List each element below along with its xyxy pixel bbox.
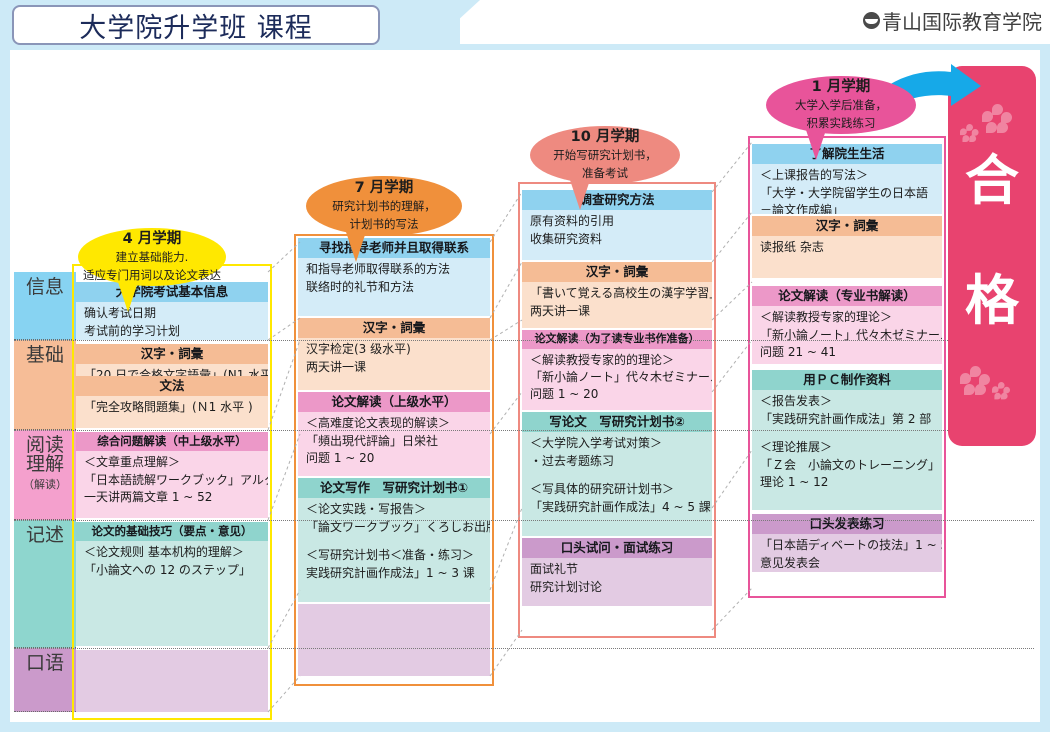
course-card-line: 汉字检定(3 级水平) [306,341,484,358]
page-title-text: 大学院升学班 课程 [79,6,313,45]
course-card-header: 汉字・詞彙 [76,344,268,364]
course-card-line: ＜理论推展＞ [760,439,936,456]
category-3: 阅读理解（解读） [14,430,76,520]
category-label: 口语 [26,654,64,673]
course-card-line: 「20 日で合格文字語彙」(N1 水平 ) [84,367,262,376]
course-card-body: 汉字检定(3 级水平)两天讲一课 [298,338,490,380]
course-card[interactable]: 论文解读（专业书解读）＜解读教授专家的理论＞「新小論ノート」代々木ゼミナール问题… [752,286,942,364]
term-bubble-subtitle: 积累实践练习 [807,116,876,132]
course-card-header: 论文解读（上级水平） [298,392,490,412]
course-card-header: 用ＰＣ制作资料 [752,370,942,390]
course-card-line: ＜上课报告的写法＞ [760,167,936,184]
course-card-line: 「頻出現代評論」日栄社 [306,433,484,450]
course-card[interactable]: 论文解读（为了读专业书作准备）＜解读教授专家的的理论＞「新小論ノート」代々木ゼミ… [522,330,712,410]
course-card-body: 「日本語ディベートの技法」1 ~ 5 章意见发表会 [752,534,942,572]
course-card-line [530,470,706,481]
course-card-header: 汉字・詞彙 [752,216,942,236]
course-card-line: ＜论文实践・写报告＞ [306,501,484,518]
course-card-line: ＜写具体的研究研计划书＞ [530,481,706,498]
course-card-line: 「新小論ノート」代々木ゼミナール [760,327,936,344]
course-card-body: ＜报告发表＞「実践研究計画作成法」第 2 部＜理论推展＞「Ｚ会 小論文のトレーニ… [752,390,942,495]
term-bubble-july: 7 月学期研究计划书的理解，计划书的写法 [306,176,462,236]
row-divider [14,520,1034,521]
course-card-body: 面试礼节研究计划讨论 [522,558,712,600]
course-card-body: ＜解读教授专家的理论＞「新小論ノート」代々木ゼミナール问题 21 ~ 41 [752,306,942,364]
course-card-header: 文法 [76,376,268,396]
term-bubble-tail [570,180,590,210]
circle-logo-icon [863,12,880,29]
course-card[interactable] [76,650,268,712]
course-card-line: 两天讲一课 [306,359,484,376]
course-card-body: 「20 日で合格文字語彙」(N1 水平 ) [76,364,268,376]
course-card-line: 「実践研究計画作成法」第 2 部 [760,411,936,428]
course-card-line: 「新小論ノート」代々木ゼミナール [530,369,706,386]
category-4: 记述 [14,520,76,648]
course-card-header: 论文的基础技巧（要点・意见） [76,522,268,541]
course-card[interactable] [298,604,490,676]
course-card[interactable]: 文法「完全攻略問題集」(Ｎ1 水平 ) [76,376,268,428]
term-bubble-title: 10 月学期 [571,129,640,146]
course-card-line: 「日本語ディベートの技法」1 ~ 5 章 [760,537,936,554]
course-card-body: ＜解读教授专家的的理论＞「新小論ノート」代々木ゼミナール问题 1 ~ 20 [522,349,712,408]
course-card-line: 联络时的礼节和方法 [306,279,484,296]
term-bubble-january: 1 月学期大学入学后准备，积累实践练习 [766,76,916,134]
term-bubble-subtitle: 研究计划书的理解， [332,199,436,215]
course-card[interactable]: 论文写作 写研究计划书①＜论文实践・写报告＞「論文ワークブック」くろしお出版＜写… [298,478,490,602]
course-card-line: －論文作成編」 [760,202,936,214]
course-card[interactable]: 汉字・詞彙汉字检定(3 级水平)两天讲一课 [298,318,490,390]
course-card-line: 研究计划讨论 [530,579,706,596]
school-logo: 青山国际教育学院 [863,6,1042,35]
course-card-body: 「完全攻略問題集」(Ｎ1 水平 ) [76,396,268,420]
category-label: 记述 [26,526,64,545]
course-card-line: ＜论文规则 基本机构的理解＞ [84,544,262,561]
course-card-header: 论文解读（专业书解读） [752,286,942,306]
course-card-body: 和指导老师取得联系的方法联络时的礼节和方法 [298,258,490,300]
term-bubble-october: 10 月学期开始写研究计划书，准备考试 [530,126,680,184]
course-card-line [306,536,484,547]
course-card[interactable]: 汉字・詞彙「20 日で合格文字語彙」(N1 水平 ) [76,344,268,376]
course-card-line: 读报纸 杂志 [760,239,936,256]
course-card-header: 汉字・詞彙 [522,262,712,282]
course-card-body: 「書いて覚える高校生の漢字学習」两天讲一课 [522,282,712,324]
row-divider [14,430,1034,431]
course-card-body: ＜大学院入学考试对策＞・过去考题练习＜写具体的研究研计划书＞「実践研究計画作成法… [522,432,712,520]
course-card-line: 「大学・大学院留学生の日本語 [760,185,936,202]
course-card-line: 実践研究計画作成法」1 ~ 3 课 [306,565,484,582]
course-card-line: ＜写研究计划书＜准备・练习＞ [306,547,484,564]
term-bubble-subtitle: 建立基础能力. [116,250,189,266]
course-card-line: 「小論文への 12 のステップ」 [84,562,262,579]
course-card-line: 意见发表会 [760,555,936,572]
course-card-body: 原有资料的引用收集研究资料 [522,210,712,252]
page-title: 大学院升学班 课程 [12,5,380,45]
header-band: 大学院升学班 课程 青山国际教育学院 [0,0,1050,50]
course-card[interactable]: 调查研究方法原有资料的引用收集研究资料 [522,190,712,260]
course-card-line: 问题 21 ~ 41 [760,344,936,361]
term-bubble-title: 1 月学期 [812,79,871,96]
category-2: 基础 [14,340,76,430]
course-card[interactable]: 了解院生生活＜上课报告的写法＞「大学・大学院留学生の日本語－論文作成編」 [752,144,942,214]
term-bubble-subtitle: 大学入学后准备， [795,98,887,114]
term-bubble-tail [806,130,826,160]
term-bubble-subtitle: 准备考试 [582,166,628,182]
course-card-body: 读报纸 杂志 [752,236,942,260]
course-card-line: ＜文章重点理解＞ [84,454,262,471]
course-card[interactable]: 口头发表练习「日本語ディベートの技法」1 ~ 5 章意见发表会 [752,514,942,572]
course-card-line: 「完全攻略問題集」(Ｎ1 水平 ) [84,399,262,416]
course-card-body: ＜论文实践・写报告＞「論文ワークブック」くろしお出版＜写研究计划书＜准备・练习＞… [298,498,490,586]
course-card-line: 问题 1 ~ 20 [530,386,706,403]
term-bubble-title: 7 月学期 [355,180,414,197]
course-card-line: 一天讲两篇文章 1 ~ 52 [84,489,262,506]
course-card[interactable]: 寻找指导老师并且取得联系和指导老师取得联系的方法联络时的礼节和方法 [298,238,490,316]
course-card-line: ＜解读教授专家的的理论＞ [530,352,706,369]
category-1: 信息 [14,272,76,340]
course-card[interactable]: 汉字・詞彙「書いて覚える高校生の漢字学習」两天讲一课 [522,262,712,328]
course-card-body: 确认考试日期考试前的学习计划 [76,302,268,340]
course-card-line: ＜大学院入学考试对策＞ [530,435,706,452]
course-card-line: 确认考试日期 [84,305,262,322]
term-bubble-subtitle: 适应专门用词以及论文表达 [83,268,221,284]
category-5: 口语 [14,648,76,712]
course-card-line: ＜解读教授专家的理论＞ [760,309,936,326]
course-card[interactable]: 大学院考试基本信息确认考试日期考试前的学习计划 [76,282,268,340]
course-card-line: 「Ｚ会 小論文のトレーニング」 [760,457,936,474]
course-card-header: 汉字・詞彙 [298,318,490,338]
course-card-line: ＜报告发表＞ [760,393,936,410]
course-card-header: 综合问题解读（中上级水平） [76,432,268,451]
row-divider [14,340,1034,341]
page-background: 大学院升学班 课程 青山国际教育学院 [0,0,1050,732]
course-card-header: 口头试问・面试练习 [522,538,712,558]
course-card-body: ＜论文规则 基本机构的理解＞「小論文への 12 のステップ」 [76,541,268,583]
category-sublabel: （解读） [23,476,67,492]
category-label: 信息 [26,278,64,297]
course-card[interactable]: 论文的基础技巧（要点・意见）＜论文规则 基本机构的理解＞「小論文への 12 のス… [76,522,268,646]
course-card-line: ・过去考题练习 [530,453,706,470]
course-card[interactable]: 论文解读（上级水平）＜高难度论文表现的解读＞「頻出現代評論」日栄社问题 1 ~ … [298,392,490,476]
course-card-line: 和指导老师取得联系的方法 [306,261,484,278]
pass-char-1: 合 [948,154,1036,208]
course-card-line: 原有资料的引用 [530,213,706,230]
row-divider [14,648,1034,649]
course-card-body: ＜高难度论文表现的解读＞「頻出現代評論」日栄社问题 1 ~ 20 [298,412,490,471]
pass-char-2: 格 [948,274,1036,328]
course-card-body: ＜文章重点理解＞「日本語読解ワークブック」アルク一天讲两篇文章 1 ~ 52 [76,451,268,510]
course-card-line: 考试前的学习计划 [84,323,262,340]
course-card[interactable]: 综合问题解读（中上级水平）＜文章重点理解＞「日本語読解ワークブック」アルク一天讲… [76,432,268,518]
category-label: 基础 [26,346,64,365]
course-card-line: 收集研究资料 [530,231,706,248]
course-card-header: 口头发表练习 [752,514,942,534]
term-bubble-tail [118,282,138,312]
course-card[interactable]: 口头试问・面试练习面试礼节研究计划讨论 [522,538,712,606]
course-card[interactable]: 汉字・詞彙读报纸 杂志 [752,216,942,278]
course-card-header: 论文写作 写研究计划书① [298,478,490,498]
category-label: 理解 [26,455,64,474]
course-card-header: 了解院生生活 [752,144,942,164]
course-card-header: 寻找指导老师并且取得联系 [298,238,490,258]
course-card-line: 问题 1 ~ 20 [306,450,484,467]
term-bubble-april: 4 月学期建立基础能力.适应专门用词以及论文表达 [78,228,226,286]
term-bubble-subtitle: 开始写研究计划书， [553,148,657,164]
course-card-line: 面试礼节 [530,561,706,578]
course-card-header: 大学院考试基本信息 [76,282,268,302]
course-card-header: 调查研究方法 [522,190,712,210]
course-card[interactable]: 用ＰＣ制作资料＜报告发表＞「実践研究計画作成法」第 2 部＜理论推展＞「Ｚ会 小… [752,370,942,510]
term-bubble-title: 4 月学期 [123,231,182,248]
course-card-line: 「論文ワークブック」くろしお出版 [306,519,484,536]
course-card-line: 两天讲一课 [530,303,706,320]
course-card-body: ＜上课报告的写法＞「大学・大学院留学生の日本語－論文作成編」 [752,164,942,214]
term-bubble-subtitle: 计划书的写法 [350,217,419,233]
course-card-line: 理论 1 ~ 12 [760,474,936,491]
school-logo-text: 青山国际教育学院 [882,6,1042,35]
term-bubble-tail [346,232,366,262]
course-card-line: 「日本語読解ワークブック」アルク [84,472,262,489]
course-card-line: 「実践研究計画作成法」4 ~ 5 課 [530,499,706,516]
course-card-line: 「書いて覚える高校生の漢字学習」 [530,285,706,302]
